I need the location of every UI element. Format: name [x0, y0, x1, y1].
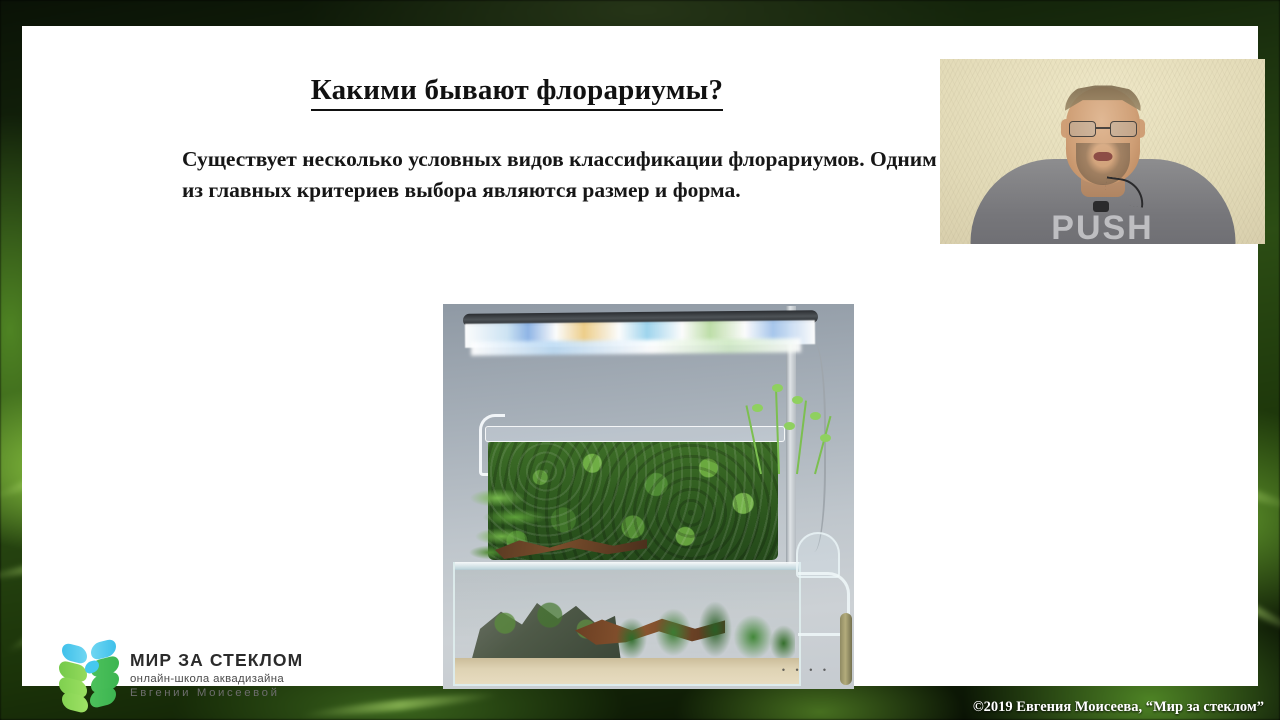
filter-hose	[840, 613, 852, 685]
lavalier-microphone	[1093, 201, 1109, 212]
slide-body-text: Существует несколько условных видов клас…	[182, 144, 942, 206]
presenter-glasses	[1068, 121, 1138, 138]
presentation-slide: Какими бывают флорариумы? Существует нес…	[22, 26, 1258, 686]
presenter-mouth	[1093, 152, 1112, 161]
logo-subtitle-author: Евгении Моисеевой	[130, 687, 303, 699]
terrarium-logo-icon	[58, 639, 120, 709]
page-title: Какими бывают флорариумы?	[122, 74, 912, 107]
shirt-logo-text: PUSH	[1051, 209, 1153, 244]
presenter-webcam-video[interactable]: PUSH	[940, 59, 1265, 244]
brand-logo[interactable]: МИР ЗА СТЕКЛОМ онлайн-школа аквадизайна …	[58, 638, 303, 710]
glasses-lens-right	[1110, 121, 1137, 137]
aquatic-plants	[605, 584, 795, 662]
sand-substrate	[455, 658, 799, 684]
logo-subtitle-school: онлайн-школа аквадизайна	[130, 673, 303, 685]
paludarium-photo: • • • •	[443, 304, 854, 689]
page-title-text: Какими бывают флорариумы?	[311, 74, 723, 111]
photo-watermark: • • • •	[782, 665, 830, 675]
water-surface-line	[455, 562, 799, 570]
logo-text-block: МИР ЗА СТЕКЛОМ онлайн-школа аквадизайна …	[130, 650, 303, 699]
emersed-plant-sprigs	[740, 378, 840, 474]
aquarium-tank	[453, 562, 801, 686]
copyright-notice: ©2019 Евгения Моисеева, “Мир за стеклом”	[973, 699, 1264, 716]
logo-brand-name: МИР ЗА СТЕКЛОМ	[130, 650, 303, 671]
glasses-bridge	[1096, 127, 1110, 129]
glasses-lens-left	[1069, 121, 1096, 137]
